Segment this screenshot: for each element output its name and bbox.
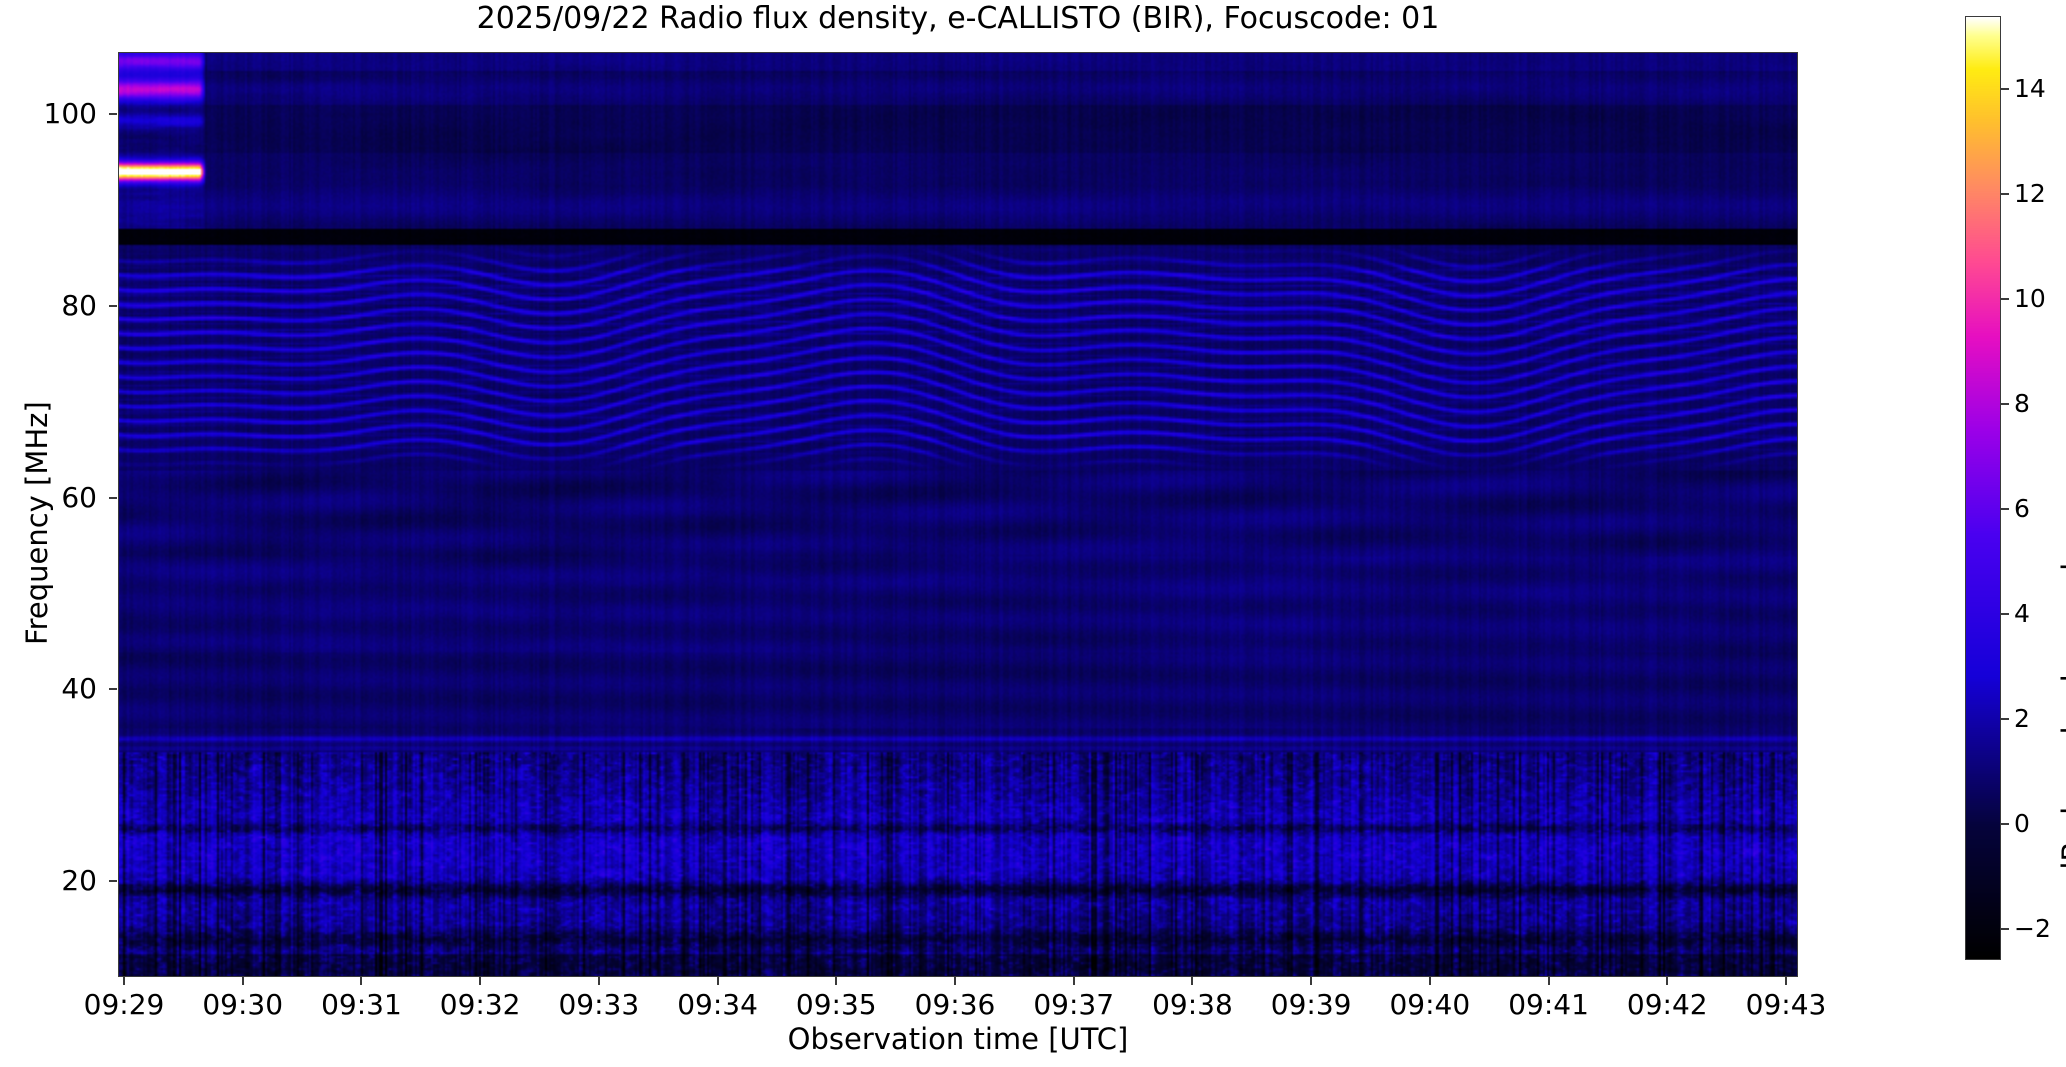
x-tick-mark bbox=[598, 977, 600, 985]
colorbar-tick-mark bbox=[2001, 823, 2009, 825]
y-tick-mark bbox=[109, 688, 117, 690]
x-tick-mark bbox=[360, 977, 362, 985]
colorbar-tick-label: −2 bbox=[2014, 916, 2051, 941]
y-axis-label: Frequency [MHz] bbox=[20, 401, 54, 645]
colorbar-gradient bbox=[1966, 17, 2000, 959]
x-tick-mark bbox=[1785, 977, 1787, 985]
colorbar-tick-mark bbox=[2001, 613, 2009, 615]
colorbar-tick-mark bbox=[2001, 403, 2009, 405]
y-tick-mark bbox=[109, 305, 117, 307]
colorbar-tick-mark bbox=[2001, 718, 2009, 720]
colorbar-tick-label: 4 bbox=[2014, 601, 2030, 626]
colorbar-tick-mark bbox=[2001, 193, 2009, 195]
x-tick-mark bbox=[1191, 977, 1193, 985]
y-tick-label: 80 bbox=[7, 292, 97, 320]
x-tick-mark bbox=[242, 977, 244, 985]
colorbar-tick-mark bbox=[2001, 88, 2009, 90]
colorbar-label: dB above background bbox=[2056, 563, 2066, 880]
x-tick-mark bbox=[1548, 977, 1550, 985]
colorbar-tick-label: 8 bbox=[2014, 391, 2030, 416]
x-tick-mark bbox=[123, 977, 125, 985]
spectrogram-image bbox=[119, 53, 1798, 977]
y-tick-mark bbox=[109, 113, 117, 115]
x-tick-label: 09:43 bbox=[1706, 991, 1866, 1019]
x-tick-mark bbox=[954, 977, 956, 985]
x-tick-mark bbox=[835, 977, 837, 985]
y-tick-label: 60 bbox=[7, 484, 97, 512]
y-tick-label: 40 bbox=[7, 675, 97, 703]
colorbar-tick-label: 0 bbox=[2014, 811, 2030, 836]
colorbar-tick-mark bbox=[2001, 298, 2009, 300]
x-tick-mark bbox=[1073, 977, 1075, 985]
y-tick-label: 20 bbox=[7, 867, 97, 895]
colorbar-tick-mark bbox=[2001, 928, 2009, 930]
y-tick-label: 100 bbox=[7, 100, 97, 128]
x-tick-mark bbox=[1666, 977, 1668, 985]
colorbar-tick-label: 12 bbox=[2014, 181, 2046, 206]
x-tick-mark bbox=[479, 977, 481, 985]
colorbar bbox=[1965, 16, 2001, 960]
figure-title: 2025/09/22 Radio flux density, e-CALLIST… bbox=[0, 2, 1916, 36]
x-axis-label: Observation time [UTC] bbox=[0, 1022, 1916, 1056]
spectrogram-figure: 2025/09/22 Radio flux density, e-CALLIST… bbox=[0, 0, 2066, 1067]
colorbar-tick-label: 6 bbox=[2014, 496, 2030, 521]
x-tick-mark bbox=[1310, 977, 1312, 985]
y-tick-mark bbox=[109, 497, 117, 499]
x-tick-mark bbox=[717, 977, 719, 985]
x-tick-mark bbox=[1429, 977, 1431, 985]
spectrogram-axes bbox=[118, 52, 1798, 977]
colorbar-tick-label: 14 bbox=[2014, 76, 2046, 101]
colorbar-tick-label: 10 bbox=[2014, 286, 2046, 311]
colorbar-tick-label: 2 bbox=[2014, 706, 2030, 731]
colorbar-tick-mark bbox=[2001, 508, 2009, 510]
y-tick-mark bbox=[109, 880, 117, 882]
